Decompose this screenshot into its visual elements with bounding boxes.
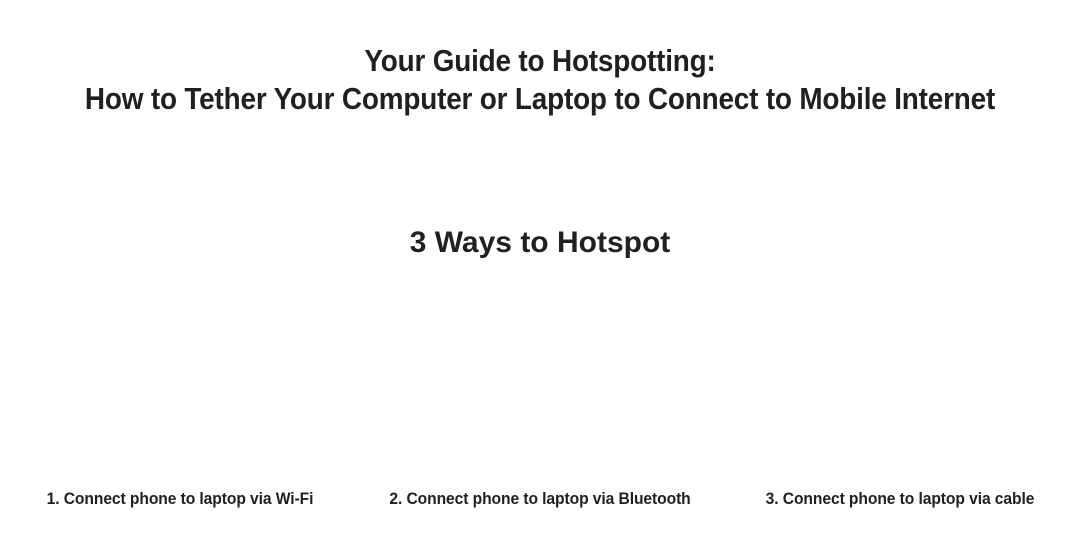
method-caption-bluetooth: 2. Connect phone to laptop via Bluetooth [374, 488, 705, 510]
illustration-slot-wifi [0, 280, 360, 480]
illustration-band [0, 280, 1080, 480]
illustration-slot-bluetooth [360, 280, 720, 480]
illustration-slot-cable [720, 280, 1080, 480]
title-line-1: Your Guide to Hotspotting: [54, 42, 1026, 80]
method-caption-wifi: 1. Connect phone to laptop via Wi-Fi [14, 488, 345, 510]
section-heading: 3 Ways to Hotspot [0, 224, 1080, 262]
page-title: Your Guide to Hotspotting: How to Tether… [0, 42, 1080, 118]
hotspotting-infographic: Your Guide to Hotspotting: How to Tether… [0, 0, 1080, 552]
title-line-2: How to Tether Your Computer or Laptop to… [54, 80, 1026, 118]
method-caption-row: 1. Connect phone to laptop via Wi-Fi 2. … [0, 488, 1080, 510]
method-caption-cable: 3. Connect phone to laptop via cable [734, 488, 1065, 510]
